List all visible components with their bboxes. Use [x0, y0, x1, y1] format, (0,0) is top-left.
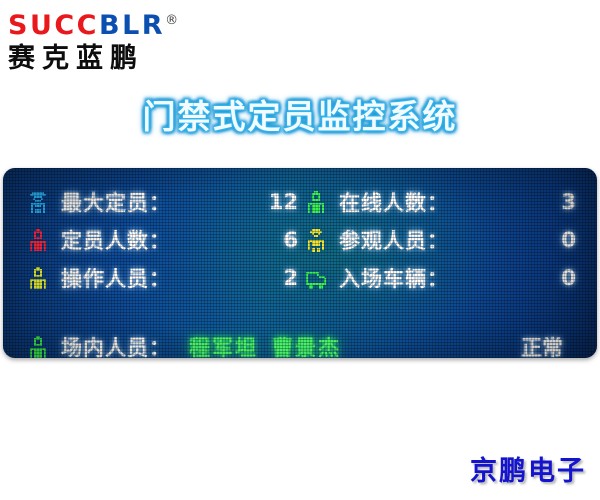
led-label: 最大定员： [61, 187, 171, 217]
led-label: 操作人员： [61, 263, 171, 293]
led-row-registered-count: 定员人数： 6 [25, 222, 310, 258]
footer-company-name: 京鹏电子 [470, 449, 586, 488]
occupant-name-2: 曹景杰 [272, 336, 341, 358]
led-label: 场内人员： [61, 332, 171, 358]
led-value: 0 [561, 266, 588, 290]
led-value: 0 [561, 228, 588, 252]
led-display-panel: 最大定员： 12 定员人 [3, 168, 597, 358]
led-content-grid: 最大定员： 12 定员人 [3, 168, 597, 358]
person-icon [25, 226, 51, 254]
occupant-names: 程军坦曹景杰 [189, 332, 341, 358]
person-icon [25, 333, 51, 358]
status-badge: 正常 [521, 332, 575, 358]
led-label: 在线人数： [339, 187, 449, 217]
wordmark-succ: SUCC [8, 10, 99, 41]
worker-helmet-person-icon [25, 188, 51, 216]
wordmark-blr: BLR [99, 10, 165, 41]
brand-wordmark: SUCCBLR® [8, 6, 208, 41]
led-value: 3 [561, 190, 588, 214]
led-row-max-capacity: 最大定员： 12 [25, 184, 310, 220]
truck-icon [303, 264, 329, 292]
brand-logo: SUCCBLR® 赛克蓝鹏 [8, 6, 208, 76]
led-label: 入场车辆： [339, 263, 449, 293]
led-row-visitors: 参观人员： 0 [303, 222, 588, 258]
led-label: 参观人员： [339, 225, 449, 255]
led-row-operators: 操作人员： 2 [25, 260, 310, 296]
person-icon [25, 264, 51, 292]
led-row-vehicles: 入场车辆： 0 [303, 260, 588, 296]
occupant-name-1: 程军坦 [189, 336, 258, 358]
led-left-column: 最大定员： 12 定员人 [25, 184, 310, 298]
visitor-helmet-person-icon [303, 226, 329, 254]
person-icon [303, 188, 329, 216]
brand-chinese-name: 赛克蓝鹏 [8, 43, 208, 75]
led-label: 定员人数： [61, 225, 171, 255]
led-right-column: 在线人数： 3 [303, 184, 588, 298]
led-row-occupants: 场内人员： 程军坦曹景杰 正常 [25, 330, 575, 358]
led-row-online-count: 在线人数： 3 [303, 184, 588, 220]
page-title: 门禁式定员监控系统 [0, 90, 600, 138]
registered-trademark-icon: ® [165, 13, 178, 28]
